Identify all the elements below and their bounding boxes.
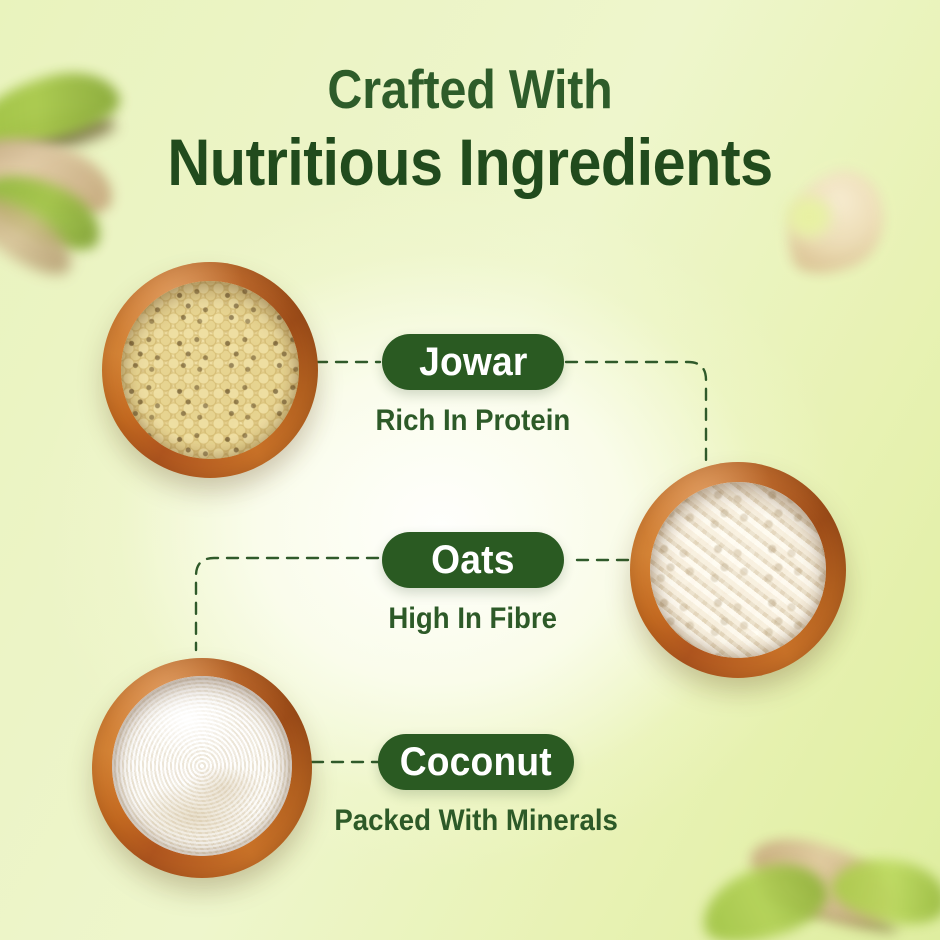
ingredient-benefit-jowar: Rich In Protein: [313, 404, 633, 438]
ingredient-name-oats: Oats: [431, 538, 514, 583]
jowar-bowl: [102, 262, 318, 478]
coconut-shading: [112, 676, 292, 856]
oat-noise-texture: [650, 482, 826, 658]
jowar-bowl-contents: [121, 281, 299, 459]
ingredient-pill-oats[interactable]: Oats: [382, 532, 564, 588]
oats-bowl: [630, 462, 846, 678]
ingredient-benefit-coconut: Packed With Minerals: [296, 804, 656, 838]
ingredient-benefit-oats: High In Fibre: [313, 602, 633, 636]
jowar-grain-texture: [121, 281, 299, 459]
oat-flake-texture: [650, 482, 826, 658]
oats-bowl-contents: [650, 482, 826, 658]
ingredient-name-coconut: Coconut: [400, 740, 552, 785]
ingredients-poster: Crafted With Nutritious Ingredients: [0, 0, 940, 940]
coconut-grain-texture: [112, 676, 292, 856]
ingredient-pill-coconut[interactable]: Coconut: [378, 734, 574, 790]
ingredient-name-jowar: Jowar: [419, 340, 527, 385]
coconut-bowl: [92, 658, 312, 878]
jowar-grain-specks: [121, 281, 299, 459]
coconut-bowl-contents: [112, 676, 292, 856]
ingredient-pill-jowar[interactable]: Jowar: [382, 334, 564, 390]
